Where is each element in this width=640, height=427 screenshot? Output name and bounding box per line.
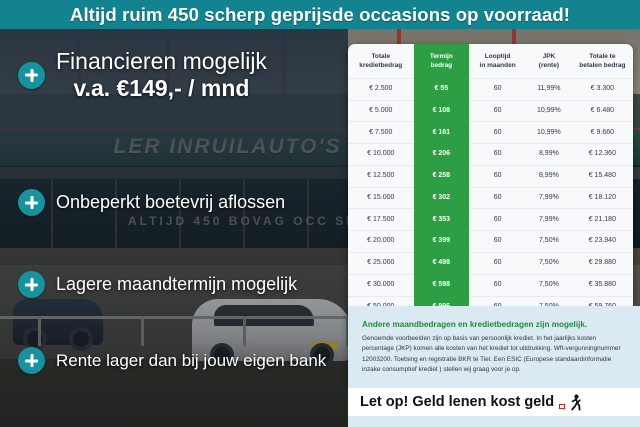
table-cell: € 9.660 (572, 122, 633, 144)
table-cell: 60 (469, 122, 526, 144)
table-cell: 11,99% (526, 78, 572, 100)
table-cell: 10,99% (526, 122, 572, 144)
benefit-item-lower-installment: Lagere maandtermijn mogelijk (18, 271, 297, 298)
table-cell: € 25.000 (348, 252, 414, 274)
table-cell: € 30.000 (348, 274, 414, 296)
table-cell: € 20.000 (348, 231, 414, 253)
table-cell: € 15.000 (348, 187, 414, 209)
table-cell: € 353 (414, 209, 470, 231)
header-bar: Altijd ruim 450 scherp geprijsde occasio… (0, 0, 640, 29)
table-cell: € 12.360 (572, 144, 633, 166)
table-cell: € 18.120 (572, 187, 633, 209)
table-cell: 60 (469, 100, 526, 122)
table-row: € 7.500€ 1616010,99%€ 9.660 (348, 122, 633, 144)
table-row: € 25.000€ 498607,50%€ 29.880 (348, 252, 633, 274)
table-cell: 60 (469, 165, 526, 187)
running-man-icon (559, 394, 580, 411)
table-row: € 12.500€ 258608,99%€ 15.480 (348, 165, 633, 187)
table-cell: € 498 (414, 252, 470, 274)
table-cell: 60 (469, 209, 526, 231)
table-cell: 60 (469, 252, 526, 274)
table-col-header: Termijnbedrag (414, 44, 470, 78)
benefit-item-financing: Financieren mogelijk v.a. €149,- / mnd (18, 48, 267, 102)
promo-banner: LER INRUILAUTO'S JOHAN MEURE ALTIJD 450 … (0, 0, 640, 427)
table-col-header: Totale tebetalen bedrag (572, 44, 633, 78)
table-cell: 8,99% (526, 165, 572, 187)
table-row: € 2.500€ 556011,99%€ 3.300 (348, 78, 633, 100)
table-cell: € 15.480 (572, 165, 633, 187)
table-cell: € 21.180 (572, 209, 633, 231)
table-cell: € 10.000 (348, 144, 414, 166)
financing-line-1: Financieren mogelijk (56, 48, 267, 74)
table-cell: € 399 (414, 231, 470, 253)
plus-icon (18, 347, 45, 374)
table-cell: 7,50% (526, 252, 572, 274)
table-cell: € 23.940 (572, 231, 633, 253)
benefit-text-lower-interest: Rente lager dan bij jouw eigen bank (56, 351, 326, 371)
table-row: € 30.000€ 598607,50%€ 35.880 (348, 274, 633, 296)
table-cell: 60 (469, 78, 526, 100)
disclaimer-body: Genoemde voorbeelden zijn op basis van p… (362, 334, 628, 376)
table-col-header: Totalekredietbedrag (348, 44, 414, 78)
plus-icon (18, 189, 45, 216)
benefit-text-financing: Financieren mogelijk v.a. €149,- / mnd (56, 48, 267, 102)
table-row: € 10.000€ 206608,99%€ 12.360 (348, 144, 633, 166)
table-cell: € 7.500 (348, 122, 414, 144)
table-body: € 2.500€ 556011,99%€ 3.300€ 5.000€ 10860… (348, 78, 633, 317)
table-cell: 7,50% (526, 231, 572, 253)
financing-line-2: v.a. €149,- / mnd (56, 74, 267, 102)
table-cell: 60 (469, 187, 526, 209)
warning-bar: Let op! Geld lenen kost geld (348, 388, 640, 416)
table-cell: € 17.500 (348, 209, 414, 231)
table-cell: € 161 (414, 122, 470, 144)
table-cell: 60 (469, 274, 526, 296)
table-cell: € 206 (414, 144, 470, 166)
table-cell: 7,99% (526, 209, 572, 231)
table-cell: 60 (469, 144, 526, 166)
table-cell: € 35.880 (572, 274, 633, 296)
table-col-header: JPK(rente) (526, 44, 572, 78)
table-cell: 8,99% (526, 144, 572, 166)
table-cell: € 302 (414, 187, 470, 209)
header-title: Altijd ruim 450 scherp geprijsde occasio… (70, 4, 570, 26)
benefits-list: Financieren mogelijk v.a. €149,- / mnd O… (0, 29, 348, 427)
table-cell: 7,99% (526, 187, 572, 209)
table-row: € 20.000€ 399607,50%€ 23.940 (348, 231, 633, 253)
table-cell: € 12.500 (348, 165, 414, 187)
table-col-header: Looptijdin maanden (469, 44, 526, 78)
table-cell: € 598 (414, 274, 470, 296)
disclaimer-heading: Andere maandbedragen en kredietbedragen … (362, 320, 628, 329)
table-cell: € 258 (414, 165, 470, 187)
rate-table: TotalekredietbedragTermijnbedragLooptijd… (348, 44, 633, 317)
table-cell: € 55 (414, 78, 470, 100)
table-row: € 5.000€ 1086010,99%€ 6.480 (348, 100, 633, 122)
table-cell: 7,50% (526, 274, 572, 296)
plus-icon (18, 271, 45, 298)
benefit-item-lower-interest: Rente lager dan bij jouw eigen bank (18, 347, 326, 374)
table-cell: 60 (469, 231, 526, 253)
table-cell: € 5.000 (348, 100, 414, 122)
table-cell: € 29.880 (572, 252, 633, 274)
table-row: € 17.500€ 353607,99%€ 21.180 (348, 209, 633, 231)
plus-icon (18, 62, 45, 89)
table-cell: € 108 (414, 100, 470, 122)
benefit-item-repayment: Onbeperkt boetevrij aflossen (18, 189, 285, 216)
table-cell: € 6.480 (572, 100, 633, 122)
benefit-text-repayment: Onbeperkt boetevrij aflossen (56, 192, 285, 213)
warning-text: Let op! Geld lenen kost geld (360, 394, 554, 410)
table-row: € 15.000€ 302607,99%€ 18.120 (348, 187, 633, 209)
table-cell: 10,99% (526, 100, 572, 122)
table-cell: € 2.500 (348, 78, 414, 100)
table-header-row: TotalekredietbedragTermijnbedragLooptijd… (348, 44, 633, 78)
benefit-text-lower-installment: Lagere maandtermijn mogelijk (56, 274, 297, 295)
table-cell: € 3.300 (572, 78, 633, 100)
